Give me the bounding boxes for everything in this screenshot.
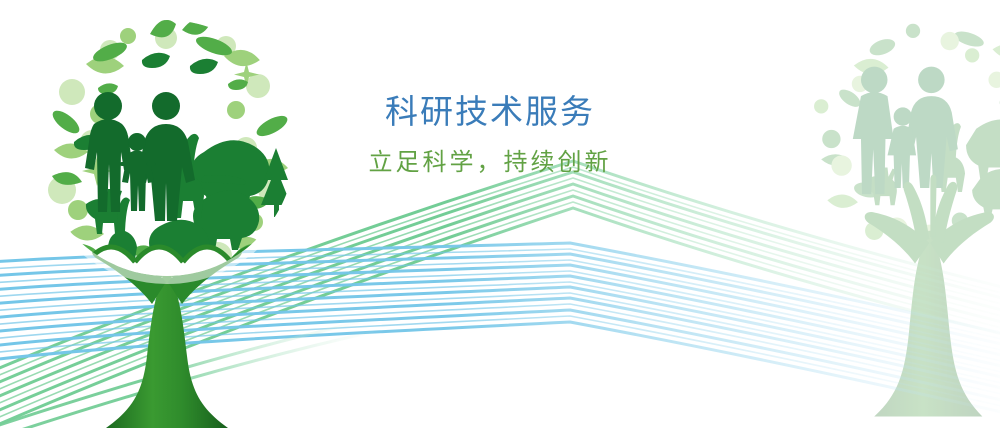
headline-layer: 科研技术服务 立足科学，持续创新 [0,0,1000,428]
page-title: 科研技术服务 [340,92,640,132]
banner-hero: 科研技术服务 立足科学，持续创新 [0,0,1000,428]
page-subtitle: 立足科学，持续创新 [340,146,640,180]
headline-block: 科研技术服务 立足科学，持续创新 [340,92,640,180]
